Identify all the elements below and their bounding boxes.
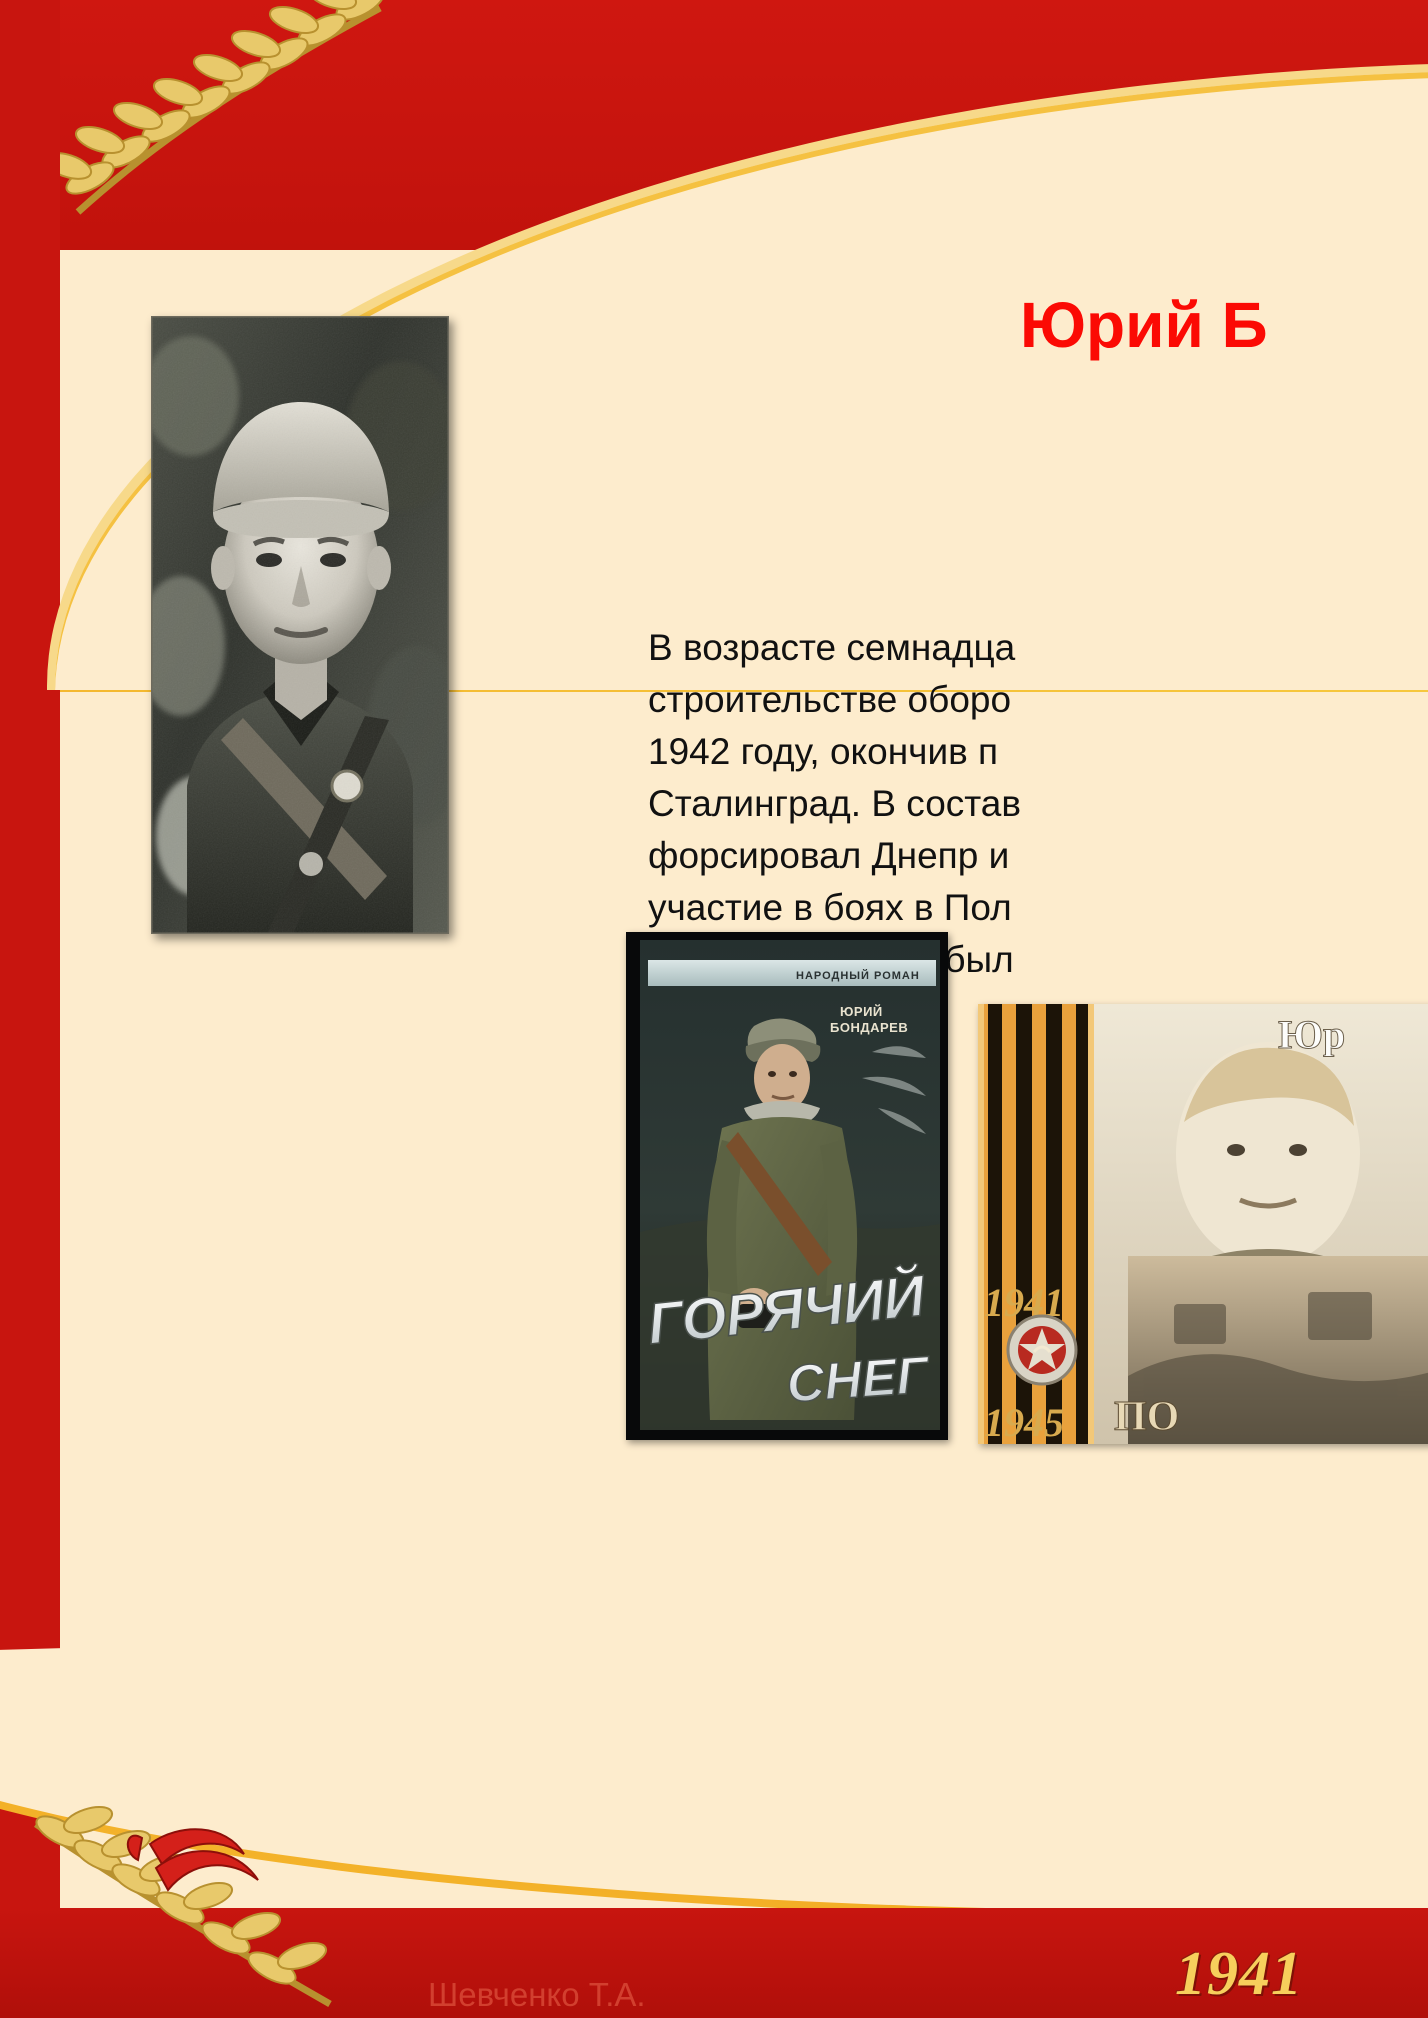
book-series-label: НАРОДНЫЙ РОМАН (796, 969, 920, 982)
body-line-6: участие в боях в Пол (648, 882, 1428, 934)
laurel-ribbon-icon (30, 1798, 370, 2018)
order-star-icon (1008, 1316, 1076, 1384)
svg-text:СНЕГ: СНЕГ (785, 1346, 932, 1414)
poster-heading: Юр (1278, 1012, 1345, 1057)
poster-year-to: 1945 (984, 1400, 1064, 1444)
laurel-branch-icon (60, 0, 390, 220)
poster-victory-word: ПО (1114, 1394, 1179, 1440)
body-line-5: форсировал Днепр и (648, 830, 1428, 882)
book-cover-image: НАРОДНЫЙ РОМАН ЮРИЙ БОНДАРЕВ (626, 932, 948, 1440)
svg-text:ЮРИЙ: ЮРИЙ (840, 1004, 883, 1019)
body-line-2: строительстве оборо (648, 674, 1428, 726)
body-line-3: 1942 году, окончив п (648, 726, 1428, 778)
portrait-photo (151, 316, 449, 934)
victory-poster-image: Юр 1941 1945 ПО (978, 1004, 1428, 1444)
body-line-1: В возрасте семнадца (648, 622, 1428, 674)
footer-year-badge: 1941 (1175, 1939, 1303, 2010)
svg-text:БОНДАРЕВ: БОНДАРЕВ (830, 1020, 908, 1035)
page-title: Юрий Б (1020, 288, 1428, 362)
presentation-slide: Юрий Б (0, 0, 1428, 2018)
body-line-4: Сталинград. В состав (648, 778, 1428, 830)
footer-author-text: Шевченко Т.А. (428, 1976, 646, 2014)
